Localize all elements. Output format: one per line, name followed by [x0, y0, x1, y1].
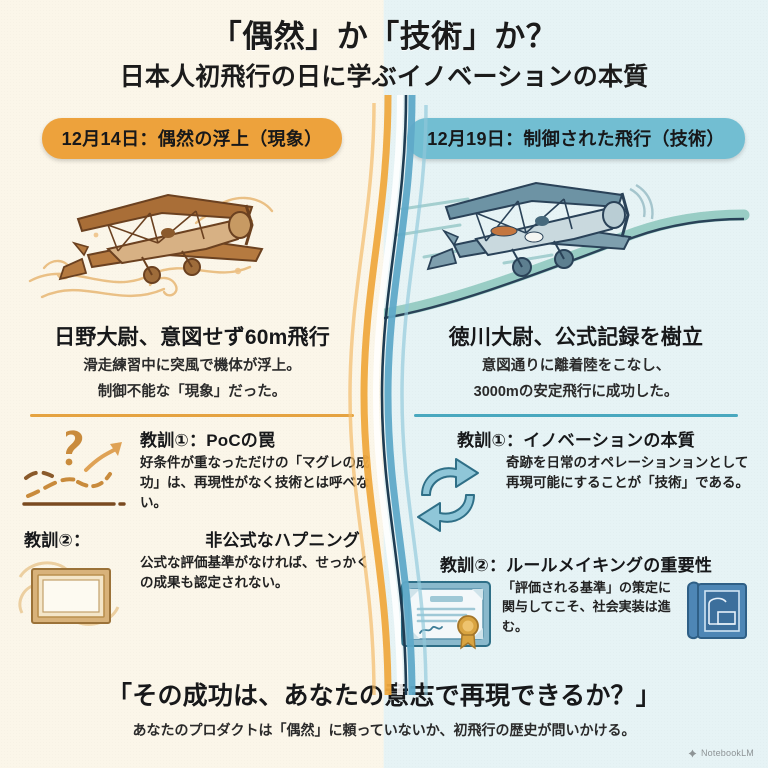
left-column: 12月14日：偶然の浮上（現象）: [0, 118, 384, 658]
footer-question: 「その成功は、あなたの意志で再現できるか？」: [0, 676, 768, 712]
right-lesson-1-row: 奇跡を日常のオペレーションョンとして再現可能にすることが「技術」である。: [398, 453, 754, 542]
right-column: 12月19日：制御された飛行（技術）: [384, 118, 768, 658]
left-divider-rule: [30, 414, 354, 417]
left-badge-wrap: 12月14日：偶然の浮上（現象）: [0, 118, 384, 159]
left-lesson-2-row: 公式な評価基準がなければ、せっかくの成果も認定されない。: [14, 553, 370, 638]
left-lesson-1-title: 教訓①：PoCの罠: [140, 426, 370, 451]
left-lesson-1-row: 教訓①：PoCの罠 好条件が重なっただけの「マグレの成功」は、再現性がなく技術と…: [14, 426, 370, 517]
watermark: NotebookLM: [688, 748, 754, 758]
infographic-poster: 「偶然」か「技術」か？ 日本人初飛行の日に学ぶイノベーションの本質 12月14日…: [0, 0, 768, 768]
erratic-chart-question-icon: [14, 426, 132, 517]
certificate-seal-icon: [398, 578, 494, 655]
left-subtext-line1: 滑走練習中に突風で機体が浮上。: [18, 356, 366, 377]
page-title-line1: 「偶然」か「技術」か？: [0, 18, 768, 57]
right-lesson-1: 教訓①：イノベーションの本質 奇跡を日常のオペレーションョンとして再現可能にする…: [384, 426, 768, 542]
left-lead: 日野大尉、意図せず60m飛行 滑走練習中に突風で機体が浮上。 制御不能な「現象」…: [0, 321, 384, 403]
right-lesson-1-title: 教訓①：イノベーションの本質: [398, 426, 754, 451]
left-lesson-2-title: 非公式なハプニング: [205, 526, 360, 551]
right-lesson-2-body: 「評価される基準」の策定に関与してこそ、社会実装は進む。: [502, 578, 674, 636]
blueprint-scroll-icon: [682, 578, 754, 649]
left-date-badge: 12月14日：偶然の浮上（現象）: [42, 118, 343, 159]
left-lesson-2-label: 教訓②：: [24, 526, 90, 551]
right-divider-rule: [414, 414, 738, 417]
right-badge-wrap: 12月19日：制御された飛行（技術）: [384, 118, 768, 159]
left-lesson-1-body: 好条件が重なっただけの「マグレの成功」は、再現性がなく技術とは呼べない。: [140, 453, 370, 513]
teal-biplane-icon: [384, 163, 768, 321]
circular-arrows-recycle-icon: [398, 453, 498, 542]
right-plane-illustration: [384, 163, 768, 321]
footer-caption: あなたのプロダクトは「偶然」に頼っていないか、初飛行の歴史が問いかける。: [0, 720, 768, 740]
right-lead: 徳川大尉、公式記録を樹立 意図通りに離着陸をこなし、 3000mの安定飛行に成功…: [384, 321, 768, 403]
left-subtext-line2: 制御不能な「現象」だった。: [18, 382, 366, 403]
page-title-line2: 日本人初飛行の日に学ぶイノベーションの本質: [0, 61, 768, 94]
left-lesson-2-body: 公式な評価基準がなければ、せっかくの成果も認定されない。: [140, 553, 370, 593]
right-lesson-1-body: 奇跡を日常のオペレーションョンとして再現可能にすることが「技術」である。: [506, 453, 754, 493]
left-lesson-1: 教訓①：PoCの罠 好条件が重なっただけの「マグレの成功」は、再現性がなく技術と…: [0, 426, 384, 517]
right-lesson-2-title: 教訓②：ルールメイキングの重要性: [398, 551, 754, 576]
left-plane-illustration: [0, 163, 384, 321]
left-lesson-2-heading: 教訓②： 非公式なハプニング: [14, 526, 370, 551]
right-lesson-2-row: 「評価される基準」の策定に関与してこそ、社会実装は進む。: [398, 578, 754, 655]
right-lesson-2: 教訓②：ルールメイキングの重要性: [384, 551, 768, 655]
right-headline: 徳川大尉、公式記録を樹立: [402, 321, 750, 351]
poster-header: 「偶然」か「技術」か？ 日本人初飛行の日に学ぶイノベーションの本質: [0, 18, 768, 93]
vintage-biplane-sepia-icon: [0, 163, 384, 321]
right-subtext-line2: 3000mの安定飛行に成功した。: [402, 382, 750, 403]
poster-footer: 「その成功は、あなたの意志で再現できるか？」 あなたのプロダクトは「偶然」に頼っ…: [0, 676, 768, 740]
left-headline: 日野大尉、意図せず60m飛行: [18, 321, 366, 351]
right-subtext-line1: 意図通りに離着陸をこなし、: [402, 356, 750, 377]
notebooklm-logo-icon: [688, 749, 697, 758]
watermark-label: NotebookLM: [701, 748, 754, 758]
empty-picture-frame-icon: [14, 553, 132, 638]
right-date-badge: 12月19日：制御された飛行（技術）: [407, 118, 744, 159]
left-lesson-2: 教訓②： 非公式なハプニング: [0, 526, 384, 638]
